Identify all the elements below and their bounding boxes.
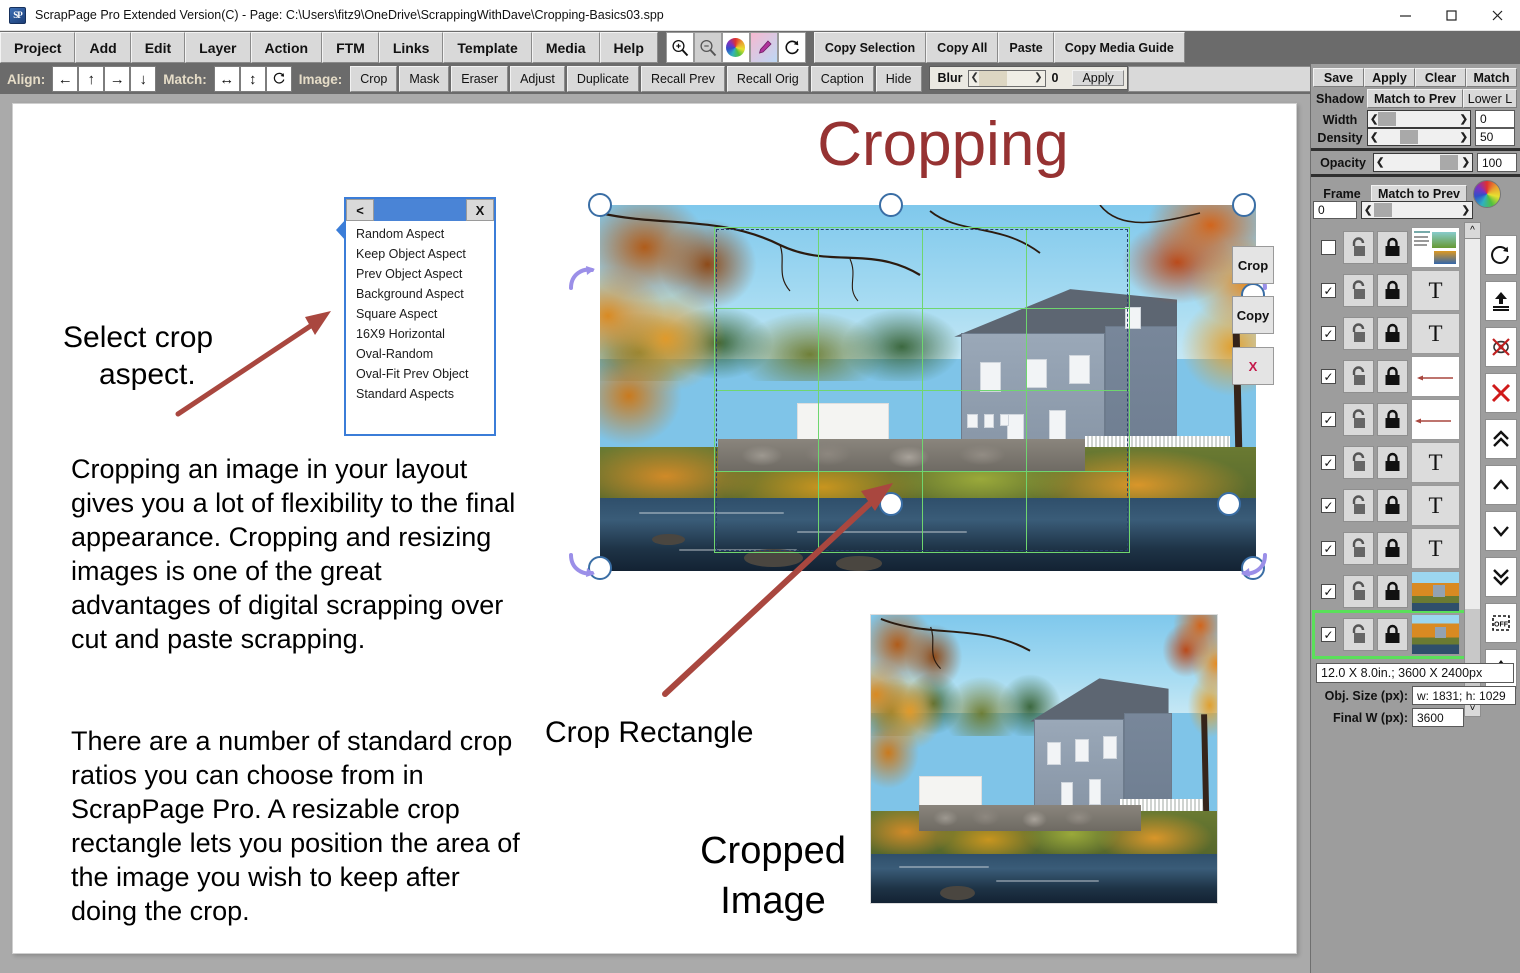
right-panel: Save Apply Clear Match Shadow Match to P…	[1310, 64, 1520, 973]
width-value[interactable]: 0	[1475, 110, 1515, 128]
density-slider-left-arrow[interactable]: ❮	[1368, 132, 1380, 143]
layer-visibility-checkbox[interactable]: ✓	[1321, 412, 1336, 427]
lock-icon[interactable]	[1377, 317, 1408, 350]
paragraph-1: Cropping an image in your layout gives y…	[71, 452, 521, 656]
unlock-icon[interactable]	[1343, 532, 1374, 565]
layer-thumbnail-line[interactable]	[1411, 356, 1460, 397]
panel-divider-2	[1311, 174, 1520, 177]
width-label: Width	[1313, 110, 1367, 129]
hide-button[interactable]: Hide	[876, 66, 922, 92]
resize-handle-top-center[interactable]	[879, 193, 903, 217]
layer-visibility-checkbox[interactable]: ✓	[1321, 369, 1336, 384]
apply-button[interactable]: Apply	[1364, 68, 1415, 87]
lock-icon[interactable]	[1377, 360, 1408, 393]
shadow-width-row: Width ❮ ❯ 0	[1313, 110, 1515, 129]
layer-row[interactable]: ✓ T	[1315, 484, 1473, 527]
final-w-label: Final W (px):	[1316, 711, 1408, 725]
menu-layer[interactable]: Layer	[185, 32, 250, 63]
maximize-icon[interactable]	[1428, 0, 1474, 31]
delete-icon[interactable]	[1485, 373, 1517, 413]
match-label: Match:	[156, 64, 214, 94]
menu-ftm[interactable]: FTM	[322, 32, 379, 63]
lock-icon[interactable]	[1377, 532, 1408, 565]
recall-orig-button[interactable]: Recall Orig	[727, 66, 809, 92]
selection-off-icon[interactable]: OFF	[1485, 603, 1517, 643]
close-icon[interactable]	[1474, 0, 1520, 31]
opacity-slider-left-arrow[interactable]: ❮	[1374, 157, 1386, 168]
move-down-icon[interactable]	[1485, 511, 1517, 551]
layer-row[interactable]: ✓ T	[1315, 269, 1473, 312]
dropdown-item-16x9-horizontal[interactable]: 16X9 Horizontal	[346, 324, 494, 344]
layer-visibility-checkbox[interactable]	[1321, 240, 1336, 255]
layer-visibility-checkbox[interactable]: ✓	[1321, 326, 1336, 341]
workspace: Cropping Select crop aspect. Cropping an…	[0, 94, 1310, 973]
dropdown-item-oval-random[interactable]: Oval-Random	[346, 344, 494, 364]
image-label: Image:	[292, 64, 350, 94]
layer-visibility-checkbox[interactable]: ✓	[1321, 498, 1336, 513]
menu-template[interactable]: Template	[443, 32, 531, 63]
title-bar: SP ScrapPage Pro Extended Version(C) - P…	[0, 0, 1520, 31]
layer-visibility-checkbox[interactable]: ✓	[1321, 455, 1336, 470]
dropdown-item-background-aspect[interactable]: Background Aspect	[346, 284, 494, 304]
resize-handle-center[interactable]	[879, 492, 903, 516]
layer-row[interactable]: ✓	[1315, 570, 1473, 613]
crop-button[interactable]: Crop	[350, 66, 397, 92]
final-w-value[interactable]: 3600	[1412, 708, 1464, 727]
dropdown-item-oval-fit-prev-object[interactable]: Oval-Fit Prev Object	[346, 364, 494, 384]
object-size-row: Obj. Size (px): w: 1831; h: 1029	[1316, 686, 1516, 705]
rotate-handle-bottom-right-icon[interactable]	[1237, 547, 1271, 581]
width-slider[interactable]: ❮ ❯	[1367, 110, 1471, 128]
blur-control: Blur ❮ ❯ 0 Apply	[929, 66, 1128, 90]
cropped-image-label-line1: Cropped	[653, 829, 893, 875]
frame-slider-left-arrow[interactable]: ❮	[1362, 205, 1374, 216]
scroll-up-icon[interactable]: ^	[1465, 223, 1480, 239]
menu-separator-2	[806, 31, 814, 64]
layer-thumbnail-photo[interactable]	[1411, 571, 1460, 612]
obj-size-label: Obj. Size (px):	[1316, 689, 1408, 703]
resize-handle-top-right[interactable]	[1232, 193, 1256, 217]
annotation-select-crop-line2: aspect.	[99, 356, 196, 394]
window-controls	[1382, 0, 1520, 31]
save-button[interactable]: Save	[1313, 68, 1364, 87]
final-width-row: Final W (px): 3600	[1316, 708, 1464, 727]
menu-edit[interactable]: Edit	[131, 32, 185, 63]
lock-icon[interactable]	[1377, 446, 1408, 479]
svg-text:OFF: OFF	[1494, 622, 1509, 629]
blur-label: Blur	[933, 71, 968, 85]
close-action-button[interactable]: X	[1232, 347, 1274, 385]
dropdown-back-button[interactable]: <	[346, 199, 374, 221]
shadow-corner-button[interactable]: Lower L	[1463, 89, 1517, 108]
zoom-in-icon[interactable]	[666, 32, 694, 63]
layer-row-selected[interactable]: ✓	[1315, 613, 1473, 656]
copy-media-guide-button[interactable]: Copy Media Guide	[1054, 32, 1185, 63]
unlock-icon[interactable]	[1343, 231, 1374, 264]
blur-slider[interactable]: ❮ ❯	[968, 70, 1046, 87]
density-slider-right-arrow[interactable]: ❯	[1458, 132, 1470, 143]
recall-prev-button[interactable]: Recall Prev	[641, 66, 725, 92]
layer-visibility-checkbox[interactable]: ✓	[1321, 627, 1336, 642]
dropdown-item-square-aspect[interactable]: Square Aspect	[346, 304, 494, 324]
color-wheel-icon[interactable]	[1473, 180, 1501, 208]
layer-visibility-checkbox[interactable]: ✓	[1321, 541, 1336, 556]
adjust-button[interactable]: Adjust	[510, 66, 565, 92]
slider-right-arrow[interactable]: ❯	[1032, 73, 1044, 83]
frame-slider-right-arrow[interactable]: ❯	[1460, 205, 1472, 216]
unlock-icon[interactable]	[1343, 618, 1374, 651]
opacity-slider-right-arrow[interactable]: ❯	[1460, 157, 1472, 168]
duplicate-button[interactable]: Duplicate	[567, 66, 639, 92]
arrow-up-icon[interactable]: ↑	[78, 66, 104, 92]
layer-row[interactable]: ✓ T	[1315, 527, 1473, 570]
panel-top-buttons: Save Apply Clear Match	[1313, 68, 1517, 87]
layer-thumbnail-photo[interactable]	[1411, 614, 1460, 655]
match-button[interactable]: Match	[1466, 68, 1517, 87]
opacity-label: Opacity	[1313, 153, 1373, 173]
copy-all-button[interactable]: Copy All	[926, 32, 998, 63]
opacity-row: Opacity ❮ ❯ 100	[1313, 153, 1517, 173]
rotate-handle-top-left-icon[interactable]	[565, 262, 599, 296]
clear-button[interactable]: Clear	[1415, 68, 1466, 87]
menu-links[interactable]: Links	[379, 32, 444, 63]
layer-thumbnail-text[interactable]: T	[1411, 270, 1460, 311]
layer-row[interactable]: ✓ T	[1315, 312, 1473, 355]
layer-thumbnail-text[interactable]: T	[1411, 313, 1460, 354]
width-slider-right-arrow[interactable]: ❯	[1458, 114, 1470, 125]
eraser-button[interactable]: Eraser	[451, 66, 508, 92]
dropdown-item-prev-object-aspect[interactable]: Prev Object Aspect	[346, 264, 494, 284]
layer-thumbnail-line[interactable]	[1411, 399, 1460, 440]
arrow-right-icon[interactable]: →	[104, 66, 130, 92]
dropdown-title-bar	[374, 199, 466, 221]
arrow-down-icon[interactable]: ↓	[130, 66, 156, 92]
window-title: ScrapPage Pro Extended Version(C) - Page…	[35, 8, 664, 22]
crop-action-button[interactable]: Crop	[1232, 246, 1274, 284]
density-slider[interactable]: ❮ ❯	[1367, 128, 1471, 146]
unlock-icon[interactable]	[1343, 274, 1374, 307]
width-slider-left-arrow[interactable]: ❮	[1368, 114, 1380, 125]
align-label: Align:	[0, 64, 52, 94]
layer-thumbnail-text[interactable]: T	[1411, 528, 1460, 569]
lock-icon[interactable]	[1377, 274, 1408, 307]
shadow-match-to-prev-button[interactable]: Match to Prev	[1367, 89, 1463, 108]
annotation-select-crop-line1: Select crop	[63, 319, 213, 357]
crop-aspect-dropdown[interactable]: < X Random Aspect Keep Object Aspect Pre…	[344, 197, 496, 436]
layer-thumbnail-text[interactable]: T	[1411, 442, 1460, 483]
lock-icon[interactable]	[1377, 231, 1408, 264]
scrollbar-thumb[interactable]	[1465, 239, 1480, 609]
rotate-icon[interactable]	[266, 66, 292, 92]
arrows-vertical-icon[interactable]: ↕	[240, 66, 266, 92]
layer-row[interactable]	[1315, 226, 1473, 269]
rotate-handle-bottom-left-icon[interactable]	[565, 547, 599, 581]
layer-tools: OFF	[1485, 235, 1517, 695]
menu-media[interactable]: Media	[532, 32, 600, 63]
app-logo-icon: SP	[9, 7, 26, 24]
blur-value: 0	[1046, 71, 1065, 85]
frame-slider[interactable]: ❮ ❯	[1361, 201, 1473, 219]
move-up-icon[interactable]	[1485, 465, 1517, 505]
page-canvas[interactable]: Cropping Select crop aspect. Cropping an…	[12, 103, 1297, 954]
bring-to-front-icon[interactable]	[1485, 281, 1517, 321]
menu-help[interactable]: Help	[600, 32, 658, 63]
menu-bar: Project Add Edit Layer Action FTM Links …	[0, 31, 1520, 64]
menu-add[interactable]: Add	[75, 32, 130, 63]
lock-icon[interactable]	[1377, 403, 1408, 436]
layer-list: ✓ T ✓ T ✓	[1315, 226, 1473, 656]
opacity-slider[interactable]: ❮ ❯	[1373, 153, 1473, 172]
menu-separator	[658, 31, 666, 64]
caption-button[interactable]: Caption	[811, 66, 874, 92]
hide-object-icon[interactable]	[1485, 327, 1517, 367]
density-value[interactable]: 50	[1475, 128, 1515, 146]
eyedropper-icon[interactable]	[750, 32, 778, 63]
minimize-icon[interactable]	[1382, 0, 1428, 31]
opacity-value[interactable]: 100	[1477, 153, 1517, 172]
layer-visibility-checkbox[interactable]: ✓	[1321, 584, 1336, 599]
undo-icon[interactable]	[1485, 235, 1517, 275]
unlock-icon[interactable]	[1343, 403, 1374, 436]
copy-action-button[interactable]: Copy	[1232, 296, 1274, 334]
lock-icon[interactable]	[1377, 489, 1408, 522]
panel-divider-1	[1311, 148, 1520, 151]
arrow-left-icon[interactable]: ←	[52, 66, 78, 92]
layer-visibility-checkbox[interactable]: ✓	[1321, 283, 1336, 298]
blur-apply-button[interactable]: Apply	[1072, 70, 1123, 86]
zoom-out-icon[interactable]	[694, 32, 722, 63]
cropped-image-label-line2: Image	[653, 879, 893, 925]
dropdown-close-button[interactable]: X	[466, 199, 494, 221]
unlock-icon[interactable]	[1343, 575, 1374, 608]
layer-list-scrollbar[interactable]: ^ ˅	[1464, 222, 1481, 717]
crop-rectangle-label: Crop Rectangle	[545, 714, 753, 752]
paragraph-2: There are a number of standard crop rati…	[71, 724, 521, 928]
frame-value-row: 0 ❮ ❯	[1313, 201, 1473, 219]
layer-row[interactable]: ✓	[1315, 355, 1473, 398]
move-bottom-icon[interactable]	[1485, 557, 1517, 597]
rotate-icon[interactable]	[778, 32, 806, 63]
dropdown-pointer-icon	[336, 219, 346, 241]
unlock-icon[interactable]	[1343, 489, 1374, 522]
copy-selection-button[interactable]: Copy Selection	[814, 32, 926, 63]
cropped-photo[interactable]	[870, 614, 1218, 904]
shadow-row: Shadow Match to Prev Lower L	[1313, 89, 1517, 108]
lock-icon[interactable]	[1377, 575, 1408, 608]
crop-dashed-box	[716, 229, 1128, 551]
dropdown-item-standard-aspects[interactable]: Standard Aspects	[346, 384, 494, 404]
dropdown-item-random-aspect[interactable]: Random Aspect	[346, 224, 494, 244]
unlock-icon[interactable]	[1343, 317, 1374, 350]
resize-handle-right[interactable]	[1217, 492, 1241, 516]
dropdown-list: Random Aspect Keep Object Aspect Prev Ob…	[346, 221, 494, 404]
slider-left-arrow[interactable]: ❮	[969, 73, 981, 83]
mask-button[interactable]: Mask	[399, 66, 449, 92]
menu-project[interactable]: Project	[0, 32, 75, 63]
application-window: SP ScrapPage Pro Extended Version(C) - P…	[0, 0, 1520, 973]
page-size-field: 12.0 X 8.0in.; 3600 X 2400px	[1316, 663, 1514, 683]
density-label: Density	[1313, 128, 1367, 147]
layer-row[interactable]: ✓ T	[1315, 441, 1473, 484]
resize-handle-top-left[interactable]	[588, 193, 612, 217]
layer-row[interactable]: ✓	[1315, 398, 1473, 441]
arrows-horizontal-icon[interactable]: ↔	[214, 66, 240, 92]
paste-button[interactable]: Paste	[998, 32, 1053, 63]
unlock-icon[interactable]	[1343, 446, 1374, 479]
shadow-density-row: Density ❮ ❯ 50	[1313, 128, 1515, 147]
layer-thumbnail-text[interactable]: T	[1411, 485, 1460, 526]
page-title: Cropping	[783, 114, 1103, 176]
move-top-icon[interactable]	[1485, 419, 1517, 459]
lock-icon[interactable]	[1377, 618, 1408, 651]
menu-action[interactable]: Action	[251, 32, 323, 63]
unlock-icon[interactable]	[1343, 360, 1374, 393]
layer-thumbnail-page-layout[interactable]	[1411, 227, 1460, 268]
shadow-label: Shadow	[1313, 89, 1367, 108]
obj-size-value: w: 1831; h: 1029	[1412, 686, 1516, 705]
dropdown-header: < X	[346, 199, 494, 221]
color-wheel-icon[interactable]	[722, 32, 750, 63]
dropdown-item-keep-object-aspect[interactable]: Keep Object Aspect	[346, 244, 494, 264]
image-toolbar: Align: ← ↑ → ↓ Match: ↔ ↕ Image: Crop Ma…	[0, 64, 1520, 94]
frame-value[interactable]: 0	[1313, 201, 1357, 219]
